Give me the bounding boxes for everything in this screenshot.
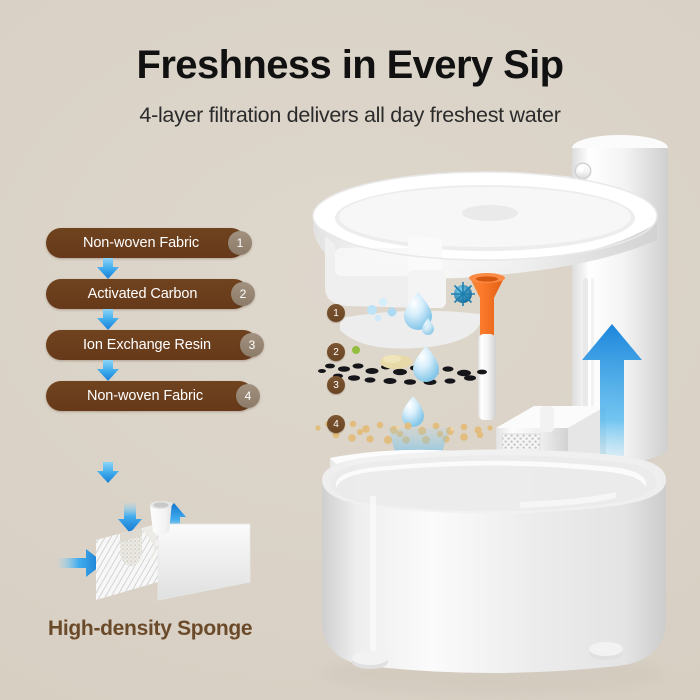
layer-pill-3-badge: 3 bbox=[240, 333, 264, 357]
filtration-layer-list: Non-woven Fabric 1 Activated Carbon 2 Io… bbox=[46, 228, 266, 411]
layer-pill-1[interactable]: Non-woven Fabric bbox=[46, 228, 246, 258]
layer-pill-4[interactable]: Non-woven Fabric bbox=[46, 381, 254, 411]
list-item: Activated Carbon 2 bbox=[46, 279, 266, 309]
sponge-illustration bbox=[58, 488, 273, 608]
layer-pill-3[interactable]: Ion Exchange Resin bbox=[46, 330, 258, 360]
layer-pill-3-label: Ion Exchange Resin bbox=[83, 337, 211, 353]
layer-pill-2-label: Activated Carbon bbox=[88, 286, 198, 302]
down-arrow-icon bbox=[118, 503, 142, 533]
diagram-layer-badge-4: 4 bbox=[327, 415, 345, 433]
layer-pill-4-label: Non-woven Fabric bbox=[87, 388, 203, 404]
layer-pill-4-badge: 4 bbox=[236, 384, 260, 408]
down-arrow-icon bbox=[95, 360, 121, 381]
page-subtitle: 4-layer filtration delivers all day fres… bbox=[0, 103, 700, 128]
layer-pill-1-label: Non-woven Fabric bbox=[83, 235, 199, 251]
list-item: Non-woven Fabric 1 bbox=[46, 228, 266, 258]
down-arrow-icon bbox=[95, 462, 121, 483]
infographic-canvas: Freshness in Every Sip 4-layer filtratio… bbox=[0, 0, 700, 700]
layer-pill-1-badge: 1 bbox=[228, 231, 252, 255]
diagram-layer-badge-3: 3 bbox=[327, 376, 345, 394]
down-arrow-icon bbox=[95, 309, 121, 330]
product-illustration bbox=[300, 128, 700, 700]
down-arrow-icon bbox=[95, 258, 121, 279]
diagram-layer-badge-1: 1 bbox=[327, 304, 345, 322]
diagram-layer-badge-2: 2 bbox=[327, 343, 345, 361]
list-item: Ion Exchange Resin 3 bbox=[46, 330, 266, 360]
layer-pill-2-badge: 2 bbox=[231, 282, 255, 306]
list-item: Non-woven Fabric 4 bbox=[46, 381, 266, 411]
sponge-label: High-density Sponge bbox=[48, 617, 252, 641]
orange-nozzle bbox=[469, 273, 505, 420]
layer-pill-2[interactable]: Activated Carbon bbox=[46, 279, 249, 309]
water-tank bbox=[320, 449, 666, 696]
page-title: Freshness in Every Sip bbox=[0, 44, 700, 86]
